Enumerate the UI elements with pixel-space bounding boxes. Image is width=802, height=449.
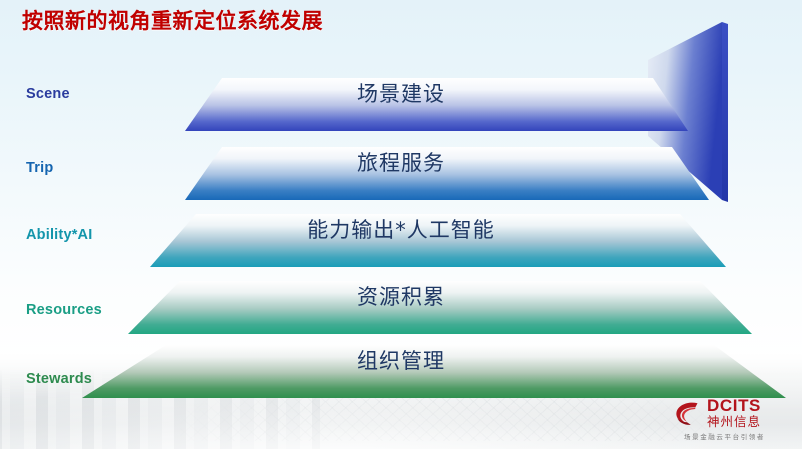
dcits-swoosh-icon: [672, 398, 702, 428]
side-label-scene: Scene: [26, 86, 70, 102]
logo-tagline: 场景金融云平台引领者: [684, 431, 765, 441]
layer-caption-resources: 资源积累: [0, 281, 802, 311]
slide-canvas: 按照新的视角重新定位系统发展: [0, 0, 802, 449]
logo-wordmark: DCITS 神州信息: [707, 397, 761, 429]
layer-caption-stewards: 组织管理: [0, 345, 802, 375]
layer-caption-scene: 场景建设: [0, 78, 802, 108]
side-label-resources: Resources: [26, 302, 102, 318]
layer-caption-ability-ai: 能力输出*人工智能: [0, 214, 802, 244]
logo-brand-cn: 神州信息: [707, 416, 761, 429]
page-title: 按照新的视角重新定位系统发展: [22, 5, 323, 35]
layer-caption-trip: 旅程服务: [0, 147, 802, 177]
logo-brand-en: DCITS: [707, 397, 761, 414]
side-label-trip: Trip: [26, 160, 53, 176]
side-label-stewards: Stewards: [26, 371, 92, 387]
side-label-ability-ai: Ability*AI: [26, 227, 92, 243]
company-logo: DCITS 神州信息 场景金融云平台引领者: [672, 395, 794, 443]
logo-lockup: DCITS 神州信息: [672, 397, 761, 429]
